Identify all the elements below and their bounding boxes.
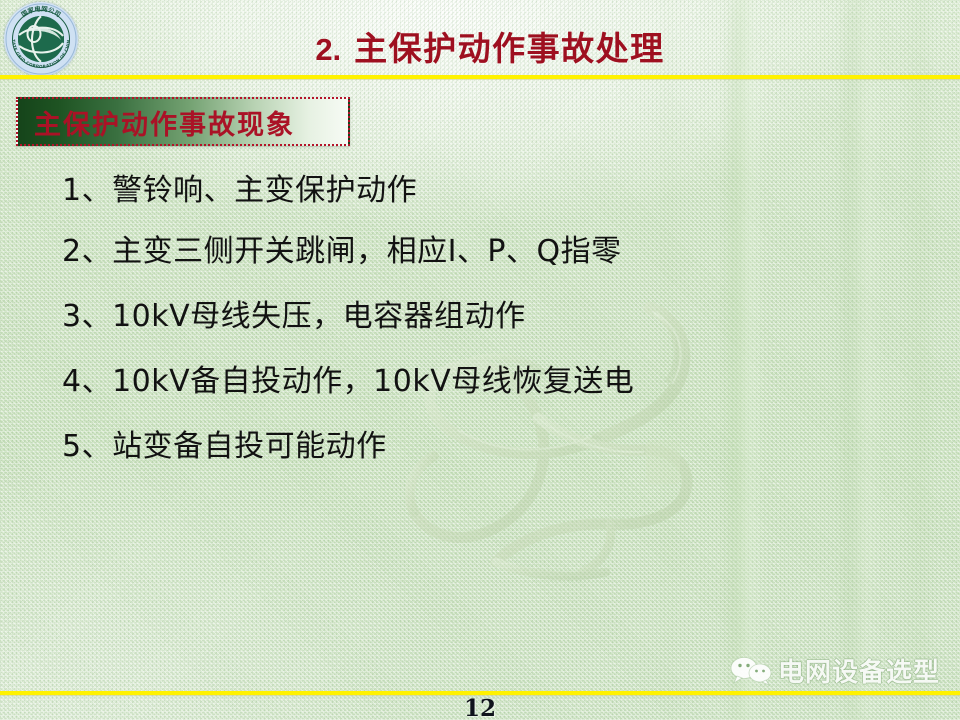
header-divider (0, 75, 960, 79)
title-text: 主保护动作事故处理 (354, 29, 665, 68)
list-item: 1、警铃响、主变保护动作 (62, 176, 832, 206)
content-list: 1、警铃响、主变保护动作 2、主变三侧开关跳闸，相应I、P、Q指零 3、10kV… (62, 176, 832, 462)
list-item: 4、10kV备自投动作，10kV母线恢复送电 (62, 367, 832, 397)
background-stripe-3 (906, 0, 932, 720)
list-item: 2、主变三侧开关跳闸，相应I、P、Q指零 (62, 237, 832, 267)
section-banner-label: 主保护动作事故现象 (34, 103, 295, 142)
page-number: 12 (0, 695, 960, 720)
background-stripe-2 (838, 0, 878, 720)
list-item: 5、站变备自投可能动作 (62, 432, 832, 462)
wechat-icon (729, 656, 773, 686)
title-number: 2. (315, 32, 341, 67)
watermark-text: 电网设备选型 (778, 652, 940, 689)
list-item: 3、10kV母线失压，电容器组动作 (62, 302, 832, 332)
state-grid-logo-icon: 国家电网公司 STATE GRID CORPORATION OF CHINA (4, 2, 78, 76)
presentation-slide: 国家电网公司 STATE GRID CORPORATION OF CHINA 2… (0, 0, 960, 720)
page-title: 2. 主保护动作事故处理 (270, 22, 710, 70)
watermark: 电网设备选型 (729, 652, 940, 689)
